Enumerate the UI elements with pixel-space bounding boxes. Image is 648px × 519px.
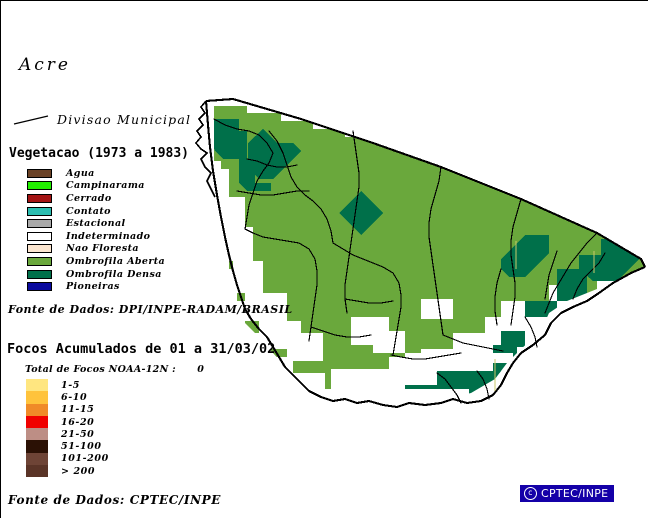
watermark-label: CPTEC/INPE xyxy=(541,488,608,499)
legend-item: 1-5 xyxy=(26,379,109,391)
legend-item: 16-20 xyxy=(26,416,109,428)
focos-swatch-11-15 xyxy=(26,404,48,416)
legend-item: Cerrado xyxy=(27,192,165,205)
focos-swatch-1-5 xyxy=(26,379,48,391)
focos-swatch-101-200 xyxy=(26,453,48,465)
legend-swatch-cerrado xyxy=(27,194,52,203)
focos-title: Focos Acumulados de 01 a 31/03/02 xyxy=(7,341,275,357)
legend-label: Indeterminado xyxy=(66,231,150,242)
legend-item: Campinarama xyxy=(27,180,165,193)
legend-label: 21-50 xyxy=(61,429,94,440)
legend-item: 101-200 xyxy=(26,453,109,465)
legend-item: Indeterminado xyxy=(27,230,165,243)
focos-total-label: Total de Focos NOAA-12N : xyxy=(25,364,176,375)
legend-label: Cerrado xyxy=(66,193,112,204)
legend-label: 11-15 xyxy=(61,404,94,415)
cptec-inpe-watermark: c CPTEC/INPE xyxy=(520,485,614,502)
legend-label: Agua xyxy=(66,168,95,179)
legend-label: Ombrofila Aberta xyxy=(66,256,165,267)
copyright-icon: c xyxy=(524,487,537,500)
vegetation-legend-title: Vegetacao (1973 a 1983) xyxy=(9,146,189,161)
boundary-legend-label: Divisao Municipal xyxy=(57,112,191,127)
legend-item: Pioneiras xyxy=(27,280,165,293)
legend-item: Contato xyxy=(27,205,165,218)
legend-swatch-indeterminado xyxy=(27,232,52,241)
focos-swatch-51-100 xyxy=(26,440,48,452)
legend-item: > 200 xyxy=(26,465,109,477)
diagonal-line-icon xyxy=(13,114,49,126)
legend-label: Pioneiras xyxy=(66,281,120,292)
legend-item: 21-50 xyxy=(26,428,109,440)
legend-swatch-ombrofila-densa xyxy=(27,270,52,279)
legend-label: 1-5 xyxy=(61,380,80,391)
focos-total-row: Total de Focos NOAA-12N : 0 xyxy=(25,364,204,375)
legend-swatch-nao-floresta xyxy=(27,244,52,253)
boundary-legend-row: Divisao Municipal xyxy=(13,112,191,127)
legend-label: Contato xyxy=(66,206,111,217)
vegetation-raster-dark xyxy=(211,119,641,405)
focos-swatch-over-200 xyxy=(26,465,48,477)
legend-label: 16-20 xyxy=(61,417,94,428)
legend-label: 51-100 xyxy=(61,441,102,452)
legend-item: Agua xyxy=(27,167,165,180)
legend-item: 6-10 xyxy=(26,391,109,403)
focos-total-value: 0 xyxy=(197,364,204,375)
legend-label: Campinarama xyxy=(66,180,145,191)
legend-label: Estacional xyxy=(66,218,126,229)
municipal-boundaries xyxy=(214,119,605,403)
page-title: Acre xyxy=(19,55,71,75)
focos-swatch-21-50 xyxy=(26,428,48,440)
vegetation-raster-light xyxy=(214,106,648,389)
focos-swatch-16-20 xyxy=(26,416,48,428)
raster-artifacts xyxy=(495,241,594,391)
focos-legend: 1-5 6-10 11-15 16-20 21-50 51-100 101-20… xyxy=(26,379,109,477)
legend-label: 6-10 xyxy=(61,392,87,403)
legend-label: > 200 xyxy=(61,466,95,477)
map-figure-frame: Acre Divisao Municipal Vegetacao (1973 a… xyxy=(0,0,648,518)
legend-swatch-contato xyxy=(27,207,52,216)
vegetation-source-text: Fonte de Dados: DPI/INPE-RADAM/BRASIL xyxy=(8,303,293,316)
legend-item: 51-100 xyxy=(26,440,109,452)
legend-swatch-estacional xyxy=(27,219,52,228)
state-outline-west-detail xyxy=(196,101,215,197)
legend-item: 11-15 xyxy=(26,404,109,416)
legend-item: Ombrofila Aberta xyxy=(27,255,165,268)
vegetation-legend: Agua Campinarama Cerrado Contato Estacio… xyxy=(27,167,165,293)
legend-item: Ombrofila Densa xyxy=(27,268,165,281)
legend-label: Ombrofila Densa xyxy=(66,269,162,280)
legend-swatch-pioneiras xyxy=(27,282,52,291)
focos-source-text: Fonte de Dados: CPTEC/INPE xyxy=(8,493,221,507)
legend-label: Nao Floresta xyxy=(66,243,139,254)
legend-swatch-agua xyxy=(27,169,52,178)
legend-item: Nao Floresta xyxy=(27,243,165,256)
legend-label: 101-200 xyxy=(61,453,109,464)
vegetation-raster-indeterminado xyxy=(206,119,648,411)
legend-swatch-campinarama xyxy=(27,181,52,190)
legend-swatch-ombrofila-aberta xyxy=(27,257,52,266)
legend-item: Estacional xyxy=(27,217,165,230)
state-outline xyxy=(206,99,645,407)
focos-swatch-6-10 xyxy=(26,391,48,403)
